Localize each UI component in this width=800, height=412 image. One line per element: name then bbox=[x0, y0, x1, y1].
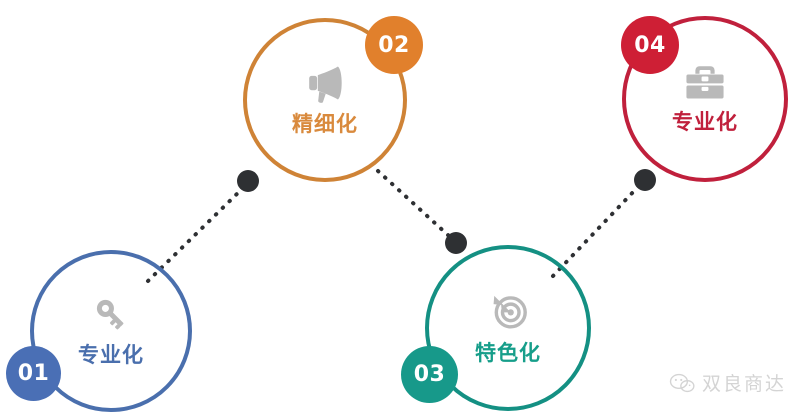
connector-02-03 bbox=[378, 171, 449, 236]
wechat-bubble-icon bbox=[669, 372, 695, 394]
step-badge-04[interactable]: 04 bbox=[621, 16, 679, 74]
step-circle-03-label: 特色化 bbox=[475, 337, 541, 367]
watermark: 双良商达 bbox=[669, 369, 786, 396]
briefcase-icon bbox=[683, 62, 727, 102]
step-badge-02[interactable]: 02 bbox=[365, 16, 423, 74]
step-badge-03[interactable]: 03 bbox=[401, 346, 458, 403]
step-badge-04-number: 04 bbox=[634, 33, 666, 58]
step-circle-02-label: 精细化 bbox=[292, 108, 358, 138]
step-badge-02-number: 02 bbox=[378, 33, 410, 58]
step-badge-01[interactable]: 01 bbox=[6, 346, 61, 401]
megaphone-icon bbox=[302, 62, 348, 104]
step-badge-01-number: 01 bbox=[18, 361, 50, 386]
watermark-text: 双良商达 bbox=[702, 369, 786, 396]
key-icon bbox=[90, 293, 132, 335]
target-arrow-icon bbox=[486, 289, 530, 333]
step-badge-03-number: 03 bbox=[414, 362, 446, 387]
step-circle-04-label: 专业化 bbox=[672, 106, 738, 136]
step-circle-01-label: 专业化 bbox=[78, 339, 144, 369]
infographic-canvas: 专业化 01 精细化 02 bbox=[0, 0, 800, 412]
